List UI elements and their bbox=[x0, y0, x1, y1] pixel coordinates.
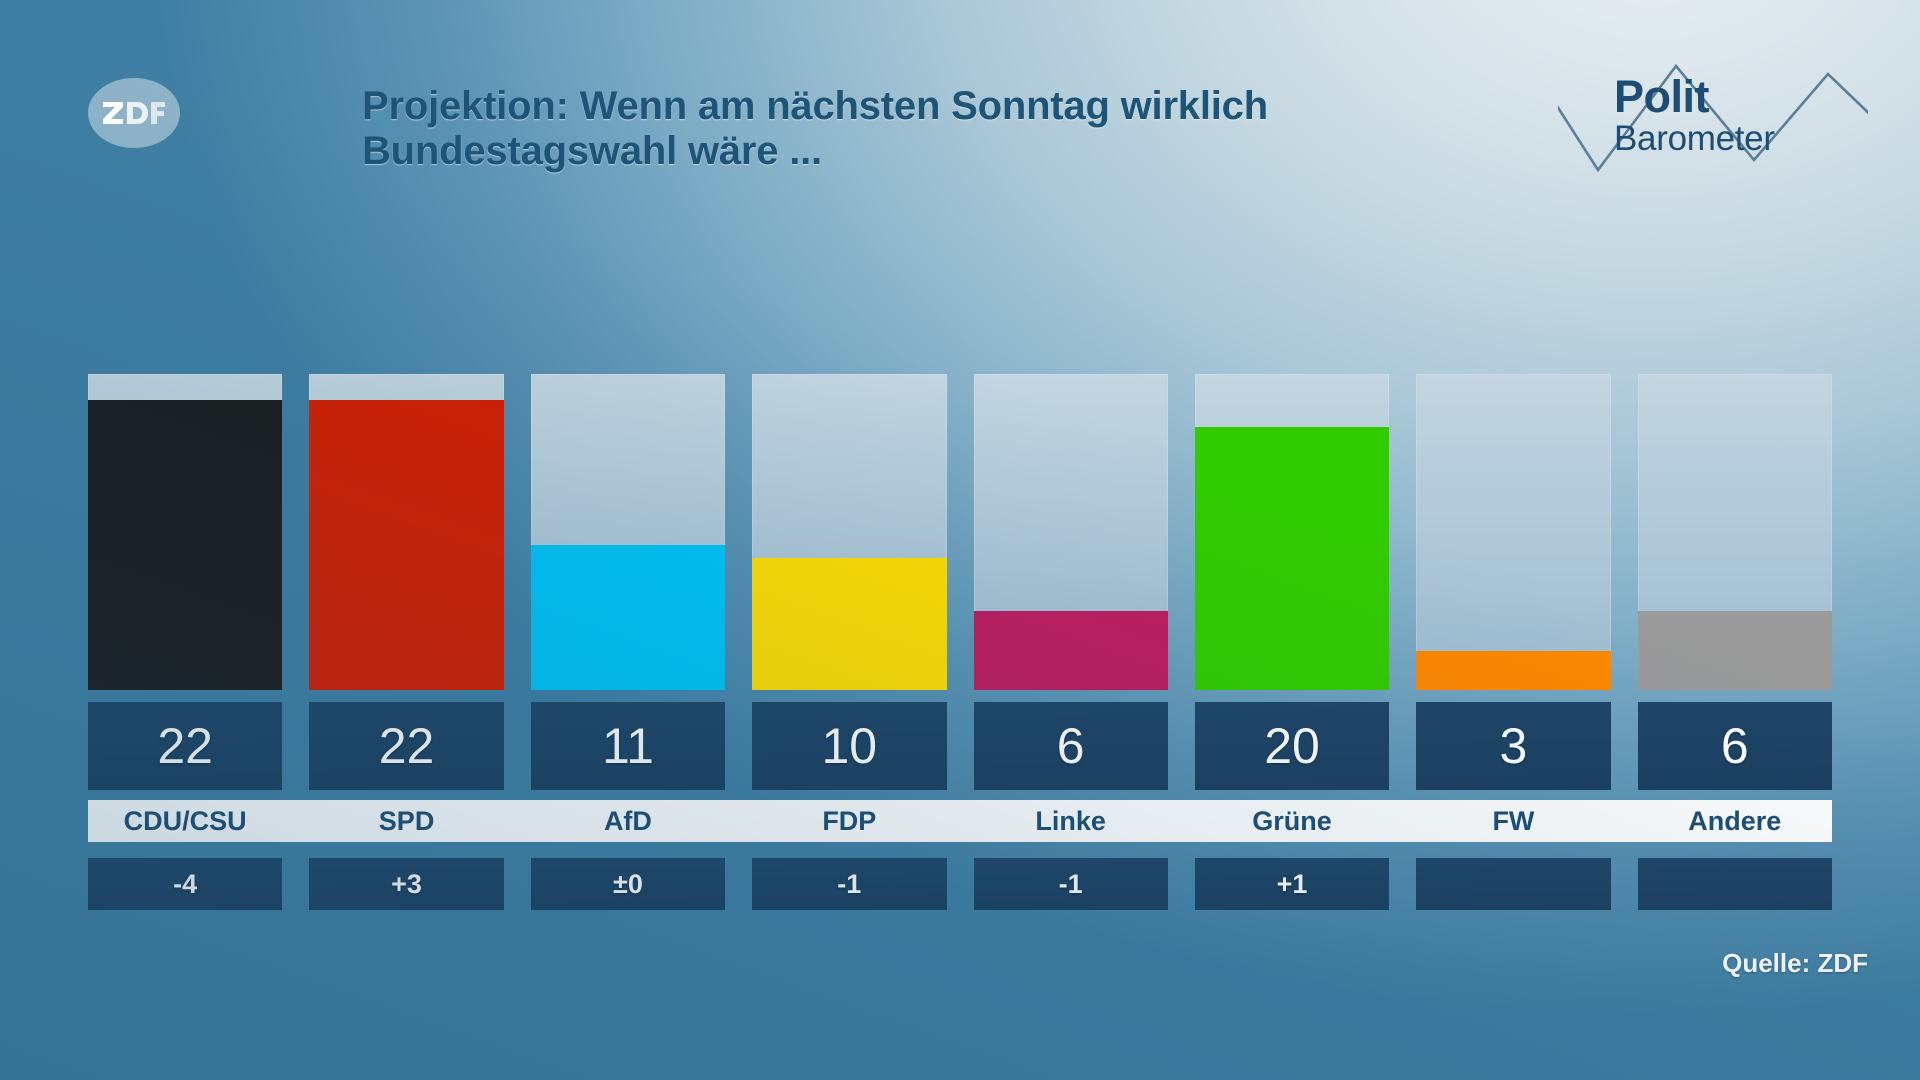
party-label-cell: AfD bbox=[531, 800, 725, 842]
party-label: FW bbox=[1416, 800, 1610, 842]
party-label-cell: Grüne bbox=[1195, 800, 1389, 842]
change-box: ±0 bbox=[531, 858, 725, 910]
change-cell: -4 bbox=[88, 858, 282, 910]
change-cell: -1 bbox=[974, 858, 1168, 910]
value-box: 22 bbox=[88, 702, 282, 790]
party-label: Linke bbox=[974, 800, 1168, 842]
headline-line-1: Projektion: Wenn am nächsten Sonntag wir… bbox=[362, 84, 1268, 128]
change-cell: -1 bbox=[752, 858, 946, 910]
party-label-strip: CDU/CSUSPDAfDFDPLinkeGrüneFWAndere bbox=[88, 800, 1832, 842]
bar-track bbox=[309, 374, 503, 690]
bar-fill bbox=[1416, 651, 1610, 691]
bar-track bbox=[974, 374, 1168, 690]
change-box: +1 bbox=[1195, 858, 1389, 910]
brand-polit: Polit bbox=[1614, 74, 1775, 119]
bar-track bbox=[752, 374, 946, 690]
value-box: 20 bbox=[1195, 702, 1389, 790]
value-box: 6 bbox=[1638, 702, 1832, 790]
change-row: -4+3±0-1-1+1 bbox=[88, 858, 1832, 910]
party-label: SPD bbox=[309, 800, 503, 842]
politbarometer-graphic: Projektion: Wenn am nächsten Sonntag wir… bbox=[0, 0, 1920, 1080]
bar-track bbox=[1416, 374, 1610, 690]
change-box: -1 bbox=[974, 858, 1168, 910]
change-box: -4 bbox=[88, 858, 282, 910]
bar-columns: 2222111062036 bbox=[88, 374, 1832, 790]
bar-fill bbox=[309, 400, 503, 690]
bar-fill bbox=[531, 545, 725, 690]
party-label: AfD bbox=[531, 800, 725, 842]
party-label: FDP bbox=[752, 800, 946, 842]
bar-fill bbox=[1638, 611, 1832, 690]
change-box bbox=[1416, 858, 1610, 910]
party-label: Grüne bbox=[1195, 800, 1389, 842]
change-cell: +1 bbox=[1195, 858, 1389, 910]
change-cell bbox=[1638, 858, 1832, 910]
headline-line-2: Bundestagswahl wäre ... bbox=[362, 129, 1422, 174]
change-cell: ±0 bbox=[531, 858, 725, 910]
bar-column: 6 bbox=[974, 374, 1168, 790]
party-label-cell: Linke bbox=[974, 800, 1168, 842]
change-cell: +3 bbox=[309, 858, 503, 910]
change-box: +3 bbox=[309, 858, 503, 910]
bar-chart: 2222111062036 bbox=[88, 374, 1832, 790]
party-label-cell: Andere bbox=[1638, 800, 1832, 842]
bar-column: 22 bbox=[309, 374, 503, 790]
bar-fill bbox=[1195, 427, 1389, 690]
party-label-cell: FW bbox=[1416, 800, 1610, 842]
change-columns: -4+3±0-1-1+1 bbox=[88, 858, 1832, 910]
bar-fill bbox=[752, 558, 946, 690]
zdf-logo bbox=[88, 78, 180, 148]
politbarometer-logo: Polit Barometer bbox=[1558, 52, 1868, 182]
bar-track bbox=[88, 374, 282, 690]
bar-track bbox=[1638, 374, 1832, 690]
change-cell bbox=[1416, 858, 1610, 910]
change-box: -1 bbox=[752, 858, 946, 910]
bar-column: 11 bbox=[531, 374, 725, 790]
bar-column: 6 bbox=[1638, 374, 1832, 790]
bar-column: 10 bbox=[752, 374, 946, 790]
value-box: 6 bbox=[974, 702, 1168, 790]
bar-column: 20 bbox=[1195, 374, 1389, 790]
bar-track bbox=[531, 374, 725, 690]
party-label-cell: CDU/CSU bbox=[88, 800, 282, 842]
source-note: Quelle: ZDF bbox=[1722, 948, 1868, 979]
page-title: Projektion: Wenn am nächsten Sonntag wir… bbox=[362, 84, 1422, 174]
bar-column: 3 bbox=[1416, 374, 1610, 790]
party-label-columns: CDU/CSUSPDAfDFDPLinkeGrüneFWAndere bbox=[88, 800, 1832, 842]
bar-fill bbox=[974, 611, 1168, 690]
bar-fill bbox=[88, 400, 282, 690]
party-label-cell: FDP bbox=[752, 800, 946, 842]
brand-barometer: Barometer bbox=[1614, 121, 1775, 156]
value-box: 11 bbox=[531, 702, 725, 790]
party-label: CDU/CSU bbox=[88, 800, 282, 842]
value-box: 10 bbox=[752, 702, 946, 790]
value-box: 22 bbox=[309, 702, 503, 790]
change-box bbox=[1638, 858, 1832, 910]
value-box: 3 bbox=[1416, 702, 1610, 790]
bar-column: 22 bbox=[88, 374, 282, 790]
party-label: Andere bbox=[1638, 800, 1832, 842]
party-label-cell: SPD bbox=[309, 800, 503, 842]
bar-track bbox=[1195, 374, 1389, 690]
